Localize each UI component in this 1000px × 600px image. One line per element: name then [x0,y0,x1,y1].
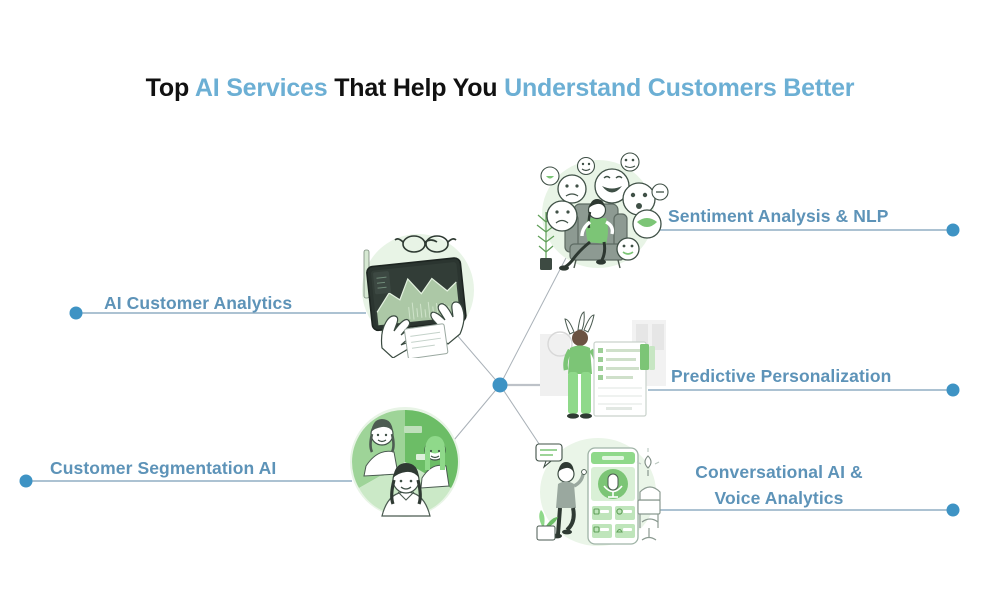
node-customer-segmentation-ai[interactable] [20,475,33,488]
node-predictive-personalization[interactable] [947,384,960,397]
illustration-checklist-person [536,308,668,426]
branch-label-line-2: Voice Analytics [664,485,894,511]
branch-label-predictive-personalization[interactable]: Predictive Personalization [671,364,891,388]
illustration-emoji-armchair [520,152,672,274]
illustration-segment-pie-faces [340,404,470,520]
infographic-canvas: Top AI Services That Help You Understand… [0,0,1000,600]
node-conversational-ai-voice-analytics[interactable] [947,504,960,517]
branch-label-conversational-ai-voice-analytics[interactable]: Conversational AI & Voice Analytics [664,459,894,511]
node-ai-customer-analytics[interactable] [70,307,83,320]
central-hub-node[interactable] [493,378,508,393]
branch-label-sentiment-analysis-nlp[interactable]: Sentiment Analysis & NLP [668,204,889,228]
illustration-phone-microphone [530,434,662,550]
illustration-tablet-analytics [352,222,478,358]
node-sentiment-analysis-nlp[interactable] [947,224,960,237]
branch-label-customer-segmentation-ai[interactable]: Customer Segmentation AI [50,456,276,480]
branch-label-ai-customer-analytics[interactable]: AI Customer Analytics [104,291,292,315]
branch-label-line-1: Conversational AI & [664,459,894,485]
